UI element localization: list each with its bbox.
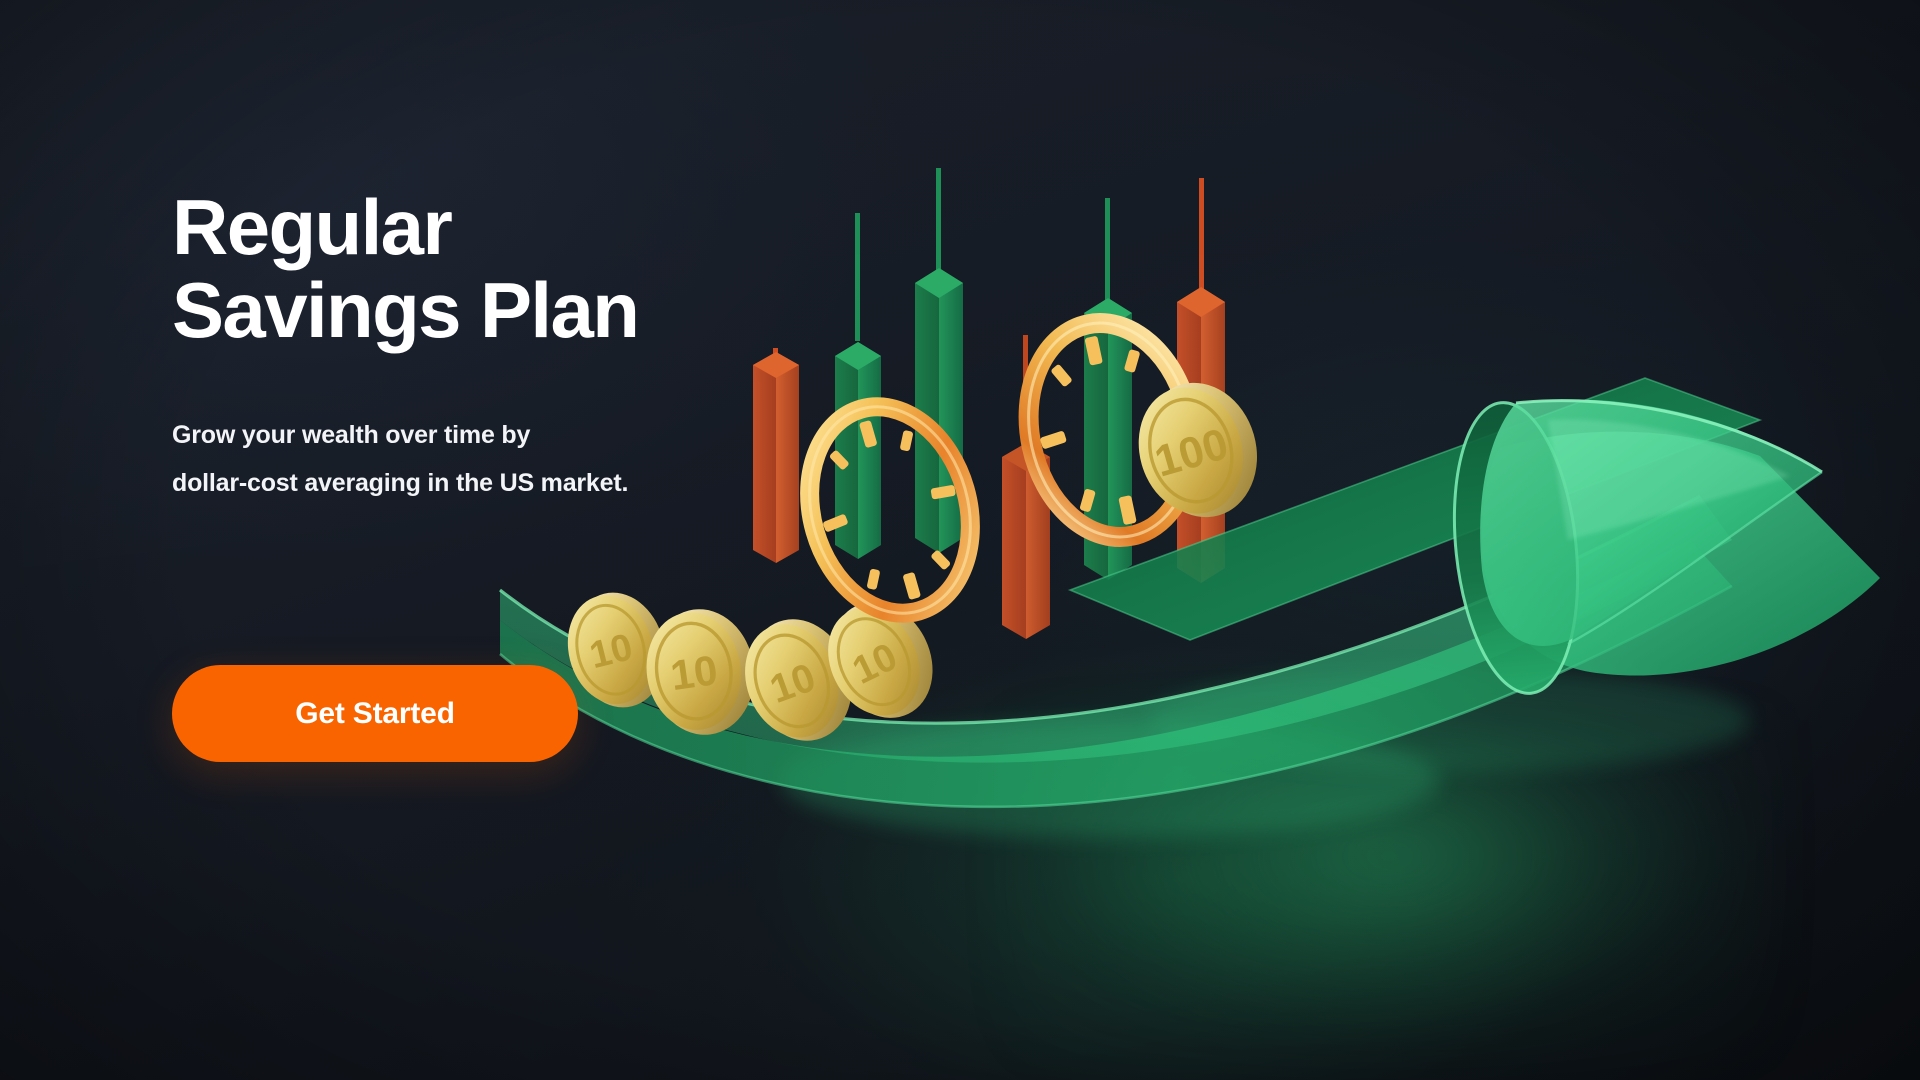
- svg-text:10: 10: [668, 646, 721, 699]
- page-title: Regular Savings Plan: [172, 186, 832, 351]
- coin-100: 100: [1124, 369, 1273, 532]
- candle-2-bullish: [835, 213, 881, 559]
- hero-copy: Regular Savings Plan Grow your wealth ov…: [172, 186, 832, 507]
- get-started-button[interactable]: Get Started: [172, 665, 578, 762]
- hero-subtitle: Grow your wealth over time by dollar-cos…: [172, 411, 832, 507]
- hero-section: 10 10 10: [0, 0, 1920, 1080]
- arrow-cone: [1441, 397, 1880, 700]
